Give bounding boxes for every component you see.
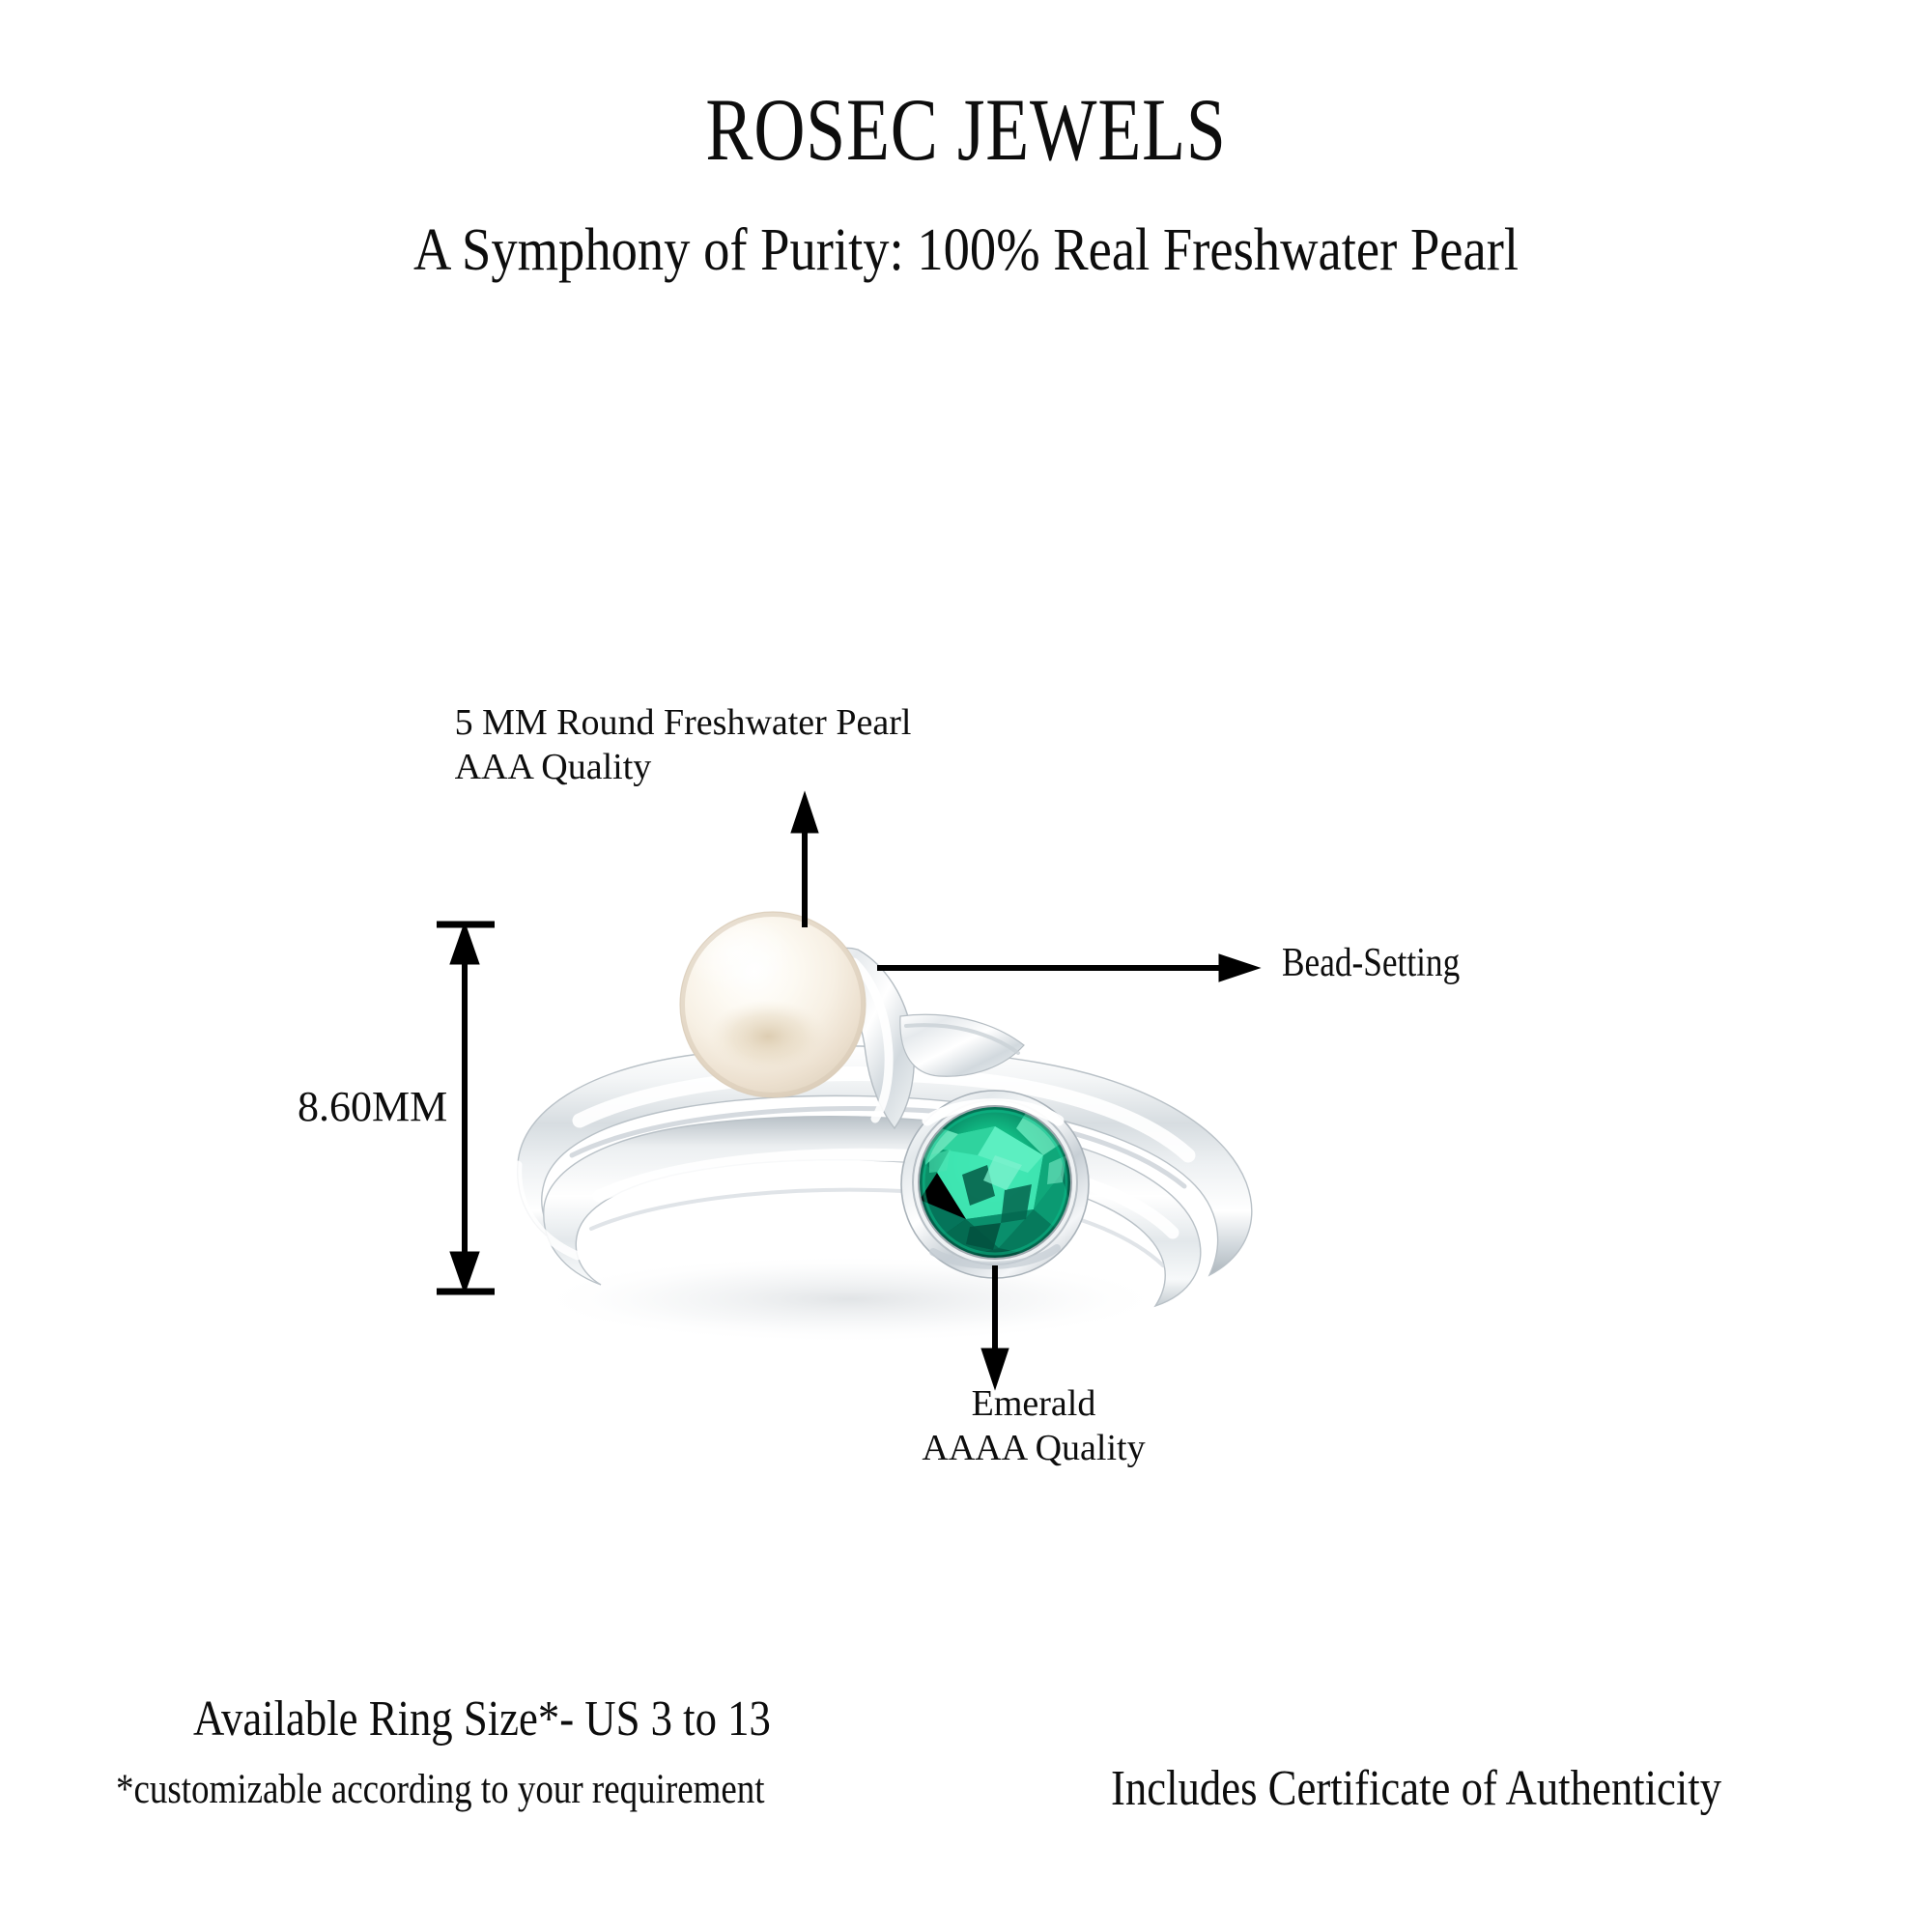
- bead-setting-leader-arrow: [877, 954, 1260, 981]
- callout-emerald-line2: AAAA Quality: [922, 1426, 1145, 1470]
- footer-ring-size-note: *customizable according to your requirem…: [116, 1766, 765, 1813]
- footer-certificate: Includes Certificate of Authenticity: [1111, 1760, 1721, 1817]
- page-subtitle: A Symphony of Purity: 100% Real Freshwat…: [116, 220, 1816, 280]
- pearl-core-blush: [708, 1000, 828, 1073]
- callout-emerald-line1: Emerald: [922, 1381, 1145, 1426]
- freshwater-pearl: [680, 912, 866, 1097]
- callout-pearl-line2: AAA Quality: [455, 745, 912, 789]
- callout-pearl-line1: 5 MM Round Freshwater Pearl: [455, 700, 912, 745]
- dimension-arrowhead-up: [450, 923, 479, 964]
- footer-ring-size: Available Ring Size*- US 3 to 13: [193, 1690, 771, 1747]
- emerald-stone-setting: [901, 1091, 1089, 1278]
- ring-drop-shadow: [531, 1255, 1169, 1344]
- dimension-label: 8.60MM: [298, 1082, 447, 1131]
- callout-emerald: Emerald AAAA Quality: [922, 1381, 1145, 1471]
- callout-pearl: 5 MM Round Freshwater Pearl AAA Quality: [455, 700, 912, 790]
- dimension-arrowhead-down: [450, 1252, 479, 1293]
- callout-bead-setting: Bead-Setting: [1282, 939, 1460, 988]
- page-title: ROSEC JEWELS: [193, 85, 1739, 174]
- pearl-leader-arrow: [791, 792, 818, 927]
- product-illustration: [0, 0, 1932, 1932]
